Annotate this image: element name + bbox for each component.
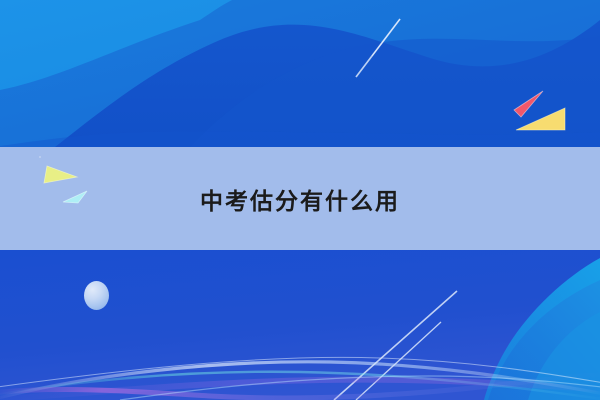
title-band: 中考估分有什么用 [0, 147, 600, 250]
bottom-glow-band [0, 250, 600, 400]
bottom-glow-graphic [0, 250, 600, 400]
top-wave-band [0, 0, 600, 147]
page-title: 中考估分有什么用 [0, 147, 600, 250]
cover-image: 中考估分有什么用 [0, 0, 600, 400]
top-wave-graphic [0, 0, 600, 147]
